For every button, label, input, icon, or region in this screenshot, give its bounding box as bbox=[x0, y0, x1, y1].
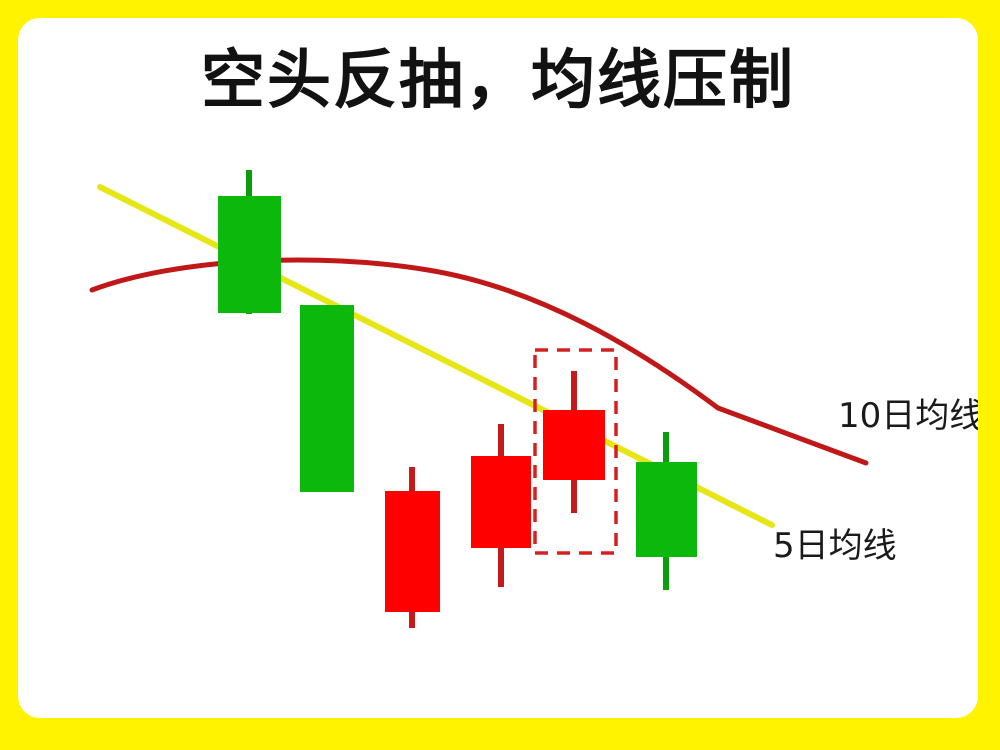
candle-5 bbox=[543, 371, 605, 513]
candle-4 bbox=[471, 424, 531, 587]
ma10-line bbox=[92, 260, 866, 463]
candle-2-body bbox=[300, 305, 354, 492]
candle-6-body bbox=[636, 462, 697, 557]
candle-1 bbox=[218, 170, 281, 314]
candle-3-body bbox=[385, 491, 440, 612]
candlestick-chart bbox=[18, 18, 978, 718]
candle-4-body bbox=[471, 456, 531, 548]
yellow-border-frame: 空头反抽，均线压制 bbox=[0, 0, 1000, 750]
candle-2 bbox=[300, 305, 354, 492]
candle-6 bbox=[636, 432, 697, 590]
chart-card: 空头反抽，均线压制 bbox=[18, 18, 978, 718]
candle-3 bbox=[385, 467, 440, 628]
candle-1-body bbox=[218, 196, 281, 313]
candle-5-body bbox=[543, 410, 605, 480]
ma10-label: 10日均线 bbox=[838, 388, 978, 437]
ma5-label: 5日均线 bbox=[773, 518, 897, 567]
